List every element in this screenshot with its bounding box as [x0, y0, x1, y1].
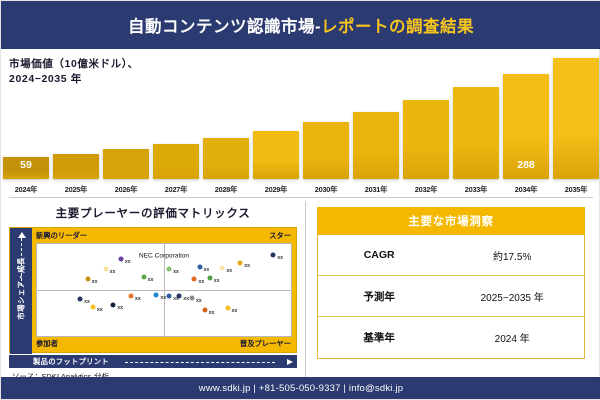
insights-table: CAGR約17.5%予測年2025−2035 年基準年2024 年 [317, 235, 585, 359]
matrix-data-point-label: xx [148, 277, 154, 283]
matrix-data-point [197, 265, 202, 270]
matrix-data-point [90, 304, 95, 309]
chart-x-tick-label: 2026年 [103, 185, 149, 195]
matrix-data-point-label: xx [110, 269, 116, 275]
chart-bar-value-label: 59 [3, 159, 49, 171]
matrix-data-point-label: xx [183, 296, 189, 302]
matrix-data-point-label: xx [160, 295, 166, 301]
matrix-annotation-nec: NEC Corporation [139, 252, 189, 259]
player-matrix-panel: 主要プレーヤーの評価マトリックス 市場シェア・成長 新興のリーダー スター 参加… [9, 201, 297, 381]
page-footer: www.sdki.jp | +81-505-050-9337 | info@sd… [1, 377, 600, 399]
chart-bar: 288 [503, 74, 549, 179]
matrix-data-point-label: xx [117, 305, 123, 311]
chart-x-tick-label: 2027年 [153, 185, 199, 195]
quadrant-label-star: スター [269, 231, 291, 241]
chart-bar-slot [403, 49, 449, 179]
matrix-data-point-label: xx [204, 267, 210, 273]
chart-x-tick-label: 2035年 [553, 185, 599, 195]
key-market-insights-panel: 主要な市場洞察 CAGR約17.5%予測年2025−2035 年基準年2024 … [317, 207, 585, 359]
matrix-data-point [189, 296, 194, 301]
insight-row-label: 基準年 [318, 330, 440, 345]
matrix-data-point [128, 293, 133, 298]
matrix-y-axis-label: 市場シェア・成長 [16, 228, 27, 352]
panel-divider-vertical [305, 201, 306, 377]
matrix-data-point-label: xx [232, 308, 238, 314]
matrix-data-point-label: xx [209, 310, 215, 316]
chart-bar [403, 100, 449, 179]
matrix-data-point-label: xx [214, 278, 220, 284]
chart-bar [303, 122, 349, 179]
matrix-data-point [85, 276, 90, 281]
insight-row-label: CAGR [318, 249, 440, 261]
chart-x-tick-label: 2025年 [53, 185, 99, 195]
matrix-data-point [141, 275, 146, 280]
matrix-data-point [192, 276, 197, 281]
infographic-page: 自動コンテンツ認識市場-レポートの調査結果 市場価値（10億米ドル）、2024−… [0, 0, 600, 400]
matrix-data-point [225, 306, 230, 311]
page-title: 自動コンテンツ認識市場-レポートの調査結果 [128, 13, 474, 37]
chart-bar-slot [103, 49, 149, 179]
chart-x-tick-label: 2030年 [303, 185, 349, 195]
insight-row-label: 予測年 [318, 289, 440, 304]
matrix-data-point-label: xx [244, 263, 250, 269]
chart-bar [453, 87, 499, 179]
arrow-right-icon [287, 359, 293, 365]
chart-bar [353, 112, 399, 179]
matrix-data-point-label: xx [277, 255, 283, 261]
chart-bar-value-label: 288 [503, 159, 549, 171]
chart-bar-slot [253, 49, 299, 179]
matrix-data-point [271, 253, 276, 258]
chart-bar-slot: 59 [3, 49, 49, 179]
insight-row: CAGR約17.5% [318, 235, 584, 276]
chart-x-tick-label: 2029年 [253, 185, 299, 195]
matrix-data-point-label: xx [173, 269, 179, 275]
chart-x-axis-labels: 2024年2025年2026年2027年2028年2029年2030年2031年… [1, 181, 600, 195]
matrix-data-point-label: xx [125, 259, 131, 265]
section-divider-horizontal [9, 197, 593, 198]
matrix-data-point [111, 302, 116, 307]
matrix-data-point [154, 292, 159, 297]
chart-bar [203, 138, 249, 179]
matrix-x-axis-label: 製品のフットプリント [33, 357, 109, 367]
chart-bar-slot: 288 [503, 49, 549, 179]
matrix-data-point [78, 297, 83, 302]
insight-row-value: 2025−2035 年 [440, 289, 584, 304]
matrix-axis-horizontal [37, 290, 291, 291]
matrix-data-point [167, 266, 172, 271]
chart-x-tick-label: 2034年 [503, 185, 549, 195]
chart-x-tick-label: 2024年 [3, 185, 49, 195]
footer-contact: www.sdki.jp | +81-505-050-9337 | info@sd… [199, 383, 403, 394]
chart-x-tick-label: 2032年 [403, 185, 449, 195]
page-title-highlight: レポートの調査結果 [321, 18, 474, 36]
insight-row-value: 2024 年 [440, 330, 584, 345]
chart-bar [253, 131, 299, 179]
chart-bar-slot [53, 49, 99, 179]
matrix-box: 市場シェア・成長 新興のリーダー スター 参加者 普及プレーヤー NEC Cor… [9, 227, 297, 353]
chart-bar [553, 58, 599, 179]
quadrant-label-emerging-leader: 新興のリーダー [36, 231, 87, 241]
matrix-data-point [202, 308, 207, 313]
quadrant-label-penetration-player: 普及プレーヤー [240, 339, 291, 349]
matrix-data-point [118, 256, 123, 261]
chart-x-tick-label: 2028年 [203, 185, 249, 195]
matrix-data-point-label: xx [97, 307, 103, 313]
matrix-y-axis: 市場シェア・成長 [10, 228, 32, 354]
page-title-main: 自動コンテンツ認識市場- [128, 18, 321, 36]
insight-row-value: 約17.5% [440, 248, 584, 263]
chart-bar: 59 [3, 157, 49, 179]
chart-bar-slot [203, 49, 249, 179]
matrix-data-point-label: xx [92, 279, 98, 285]
matrix-data-point [207, 276, 212, 281]
market-value-chart: 市場価値（10億米ドル）、2024−2035 年 59288 2024年2025… [1, 49, 600, 197]
page-header: 自動コンテンツ認識市場-レポートの調査結果 [1, 1, 600, 49]
chart-bar-slot [153, 49, 199, 179]
insight-row: 基準年2024 年 [318, 317, 584, 358]
matrix-data-point [103, 266, 108, 271]
chart-bar [53, 154, 99, 179]
chart-bar [103, 149, 149, 179]
chart-bar-slot [553, 49, 599, 179]
chart-bar-slot [453, 49, 499, 179]
quadrant-label-participant: 参加者 [36, 339, 58, 349]
matrix-data-point-label: xx [84, 299, 90, 305]
matrix-data-point [220, 265, 225, 270]
chart-bars: 59288 [1, 49, 600, 179]
chart-bar-slot [353, 49, 399, 179]
chart-bar [153, 144, 199, 179]
matrix-data-point-label: xx [135, 296, 141, 302]
matrix-plot-area: NEC Corporation xxxxxxxxxxxxxxxxxxxxxxxx… [36, 243, 292, 337]
matrix-data-point [177, 294, 182, 299]
chart-x-tick-label: 2031年 [353, 185, 399, 195]
matrix-data-point-label: xx [198, 279, 204, 285]
insights-header: 主要な市場洞察 [317, 207, 585, 235]
chart-x-tick-label: 2033年 [453, 185, 499, 195]
chart-bar-slot [303, 49, 349, 179]
matrix-data-point [167, 294, 172, 299]
matrix-data-point-label: xx [226, 268, 232, 274]
matrix-title: 主要プレーヤーの評価マトリックス [9, 201, 297, 221]
insight-row: 予測年2025−2035 年 [318, 276, 584, 317]
matrix-x-axis: 製品のフットプリント [9, 355, 297, 368]
dashed-line-horizontal [125, 362, 275, 363]
matrix-data-point-label: xx [196, 298, 202, 304]
matrix-data-point [238, 261, 243, 266]
